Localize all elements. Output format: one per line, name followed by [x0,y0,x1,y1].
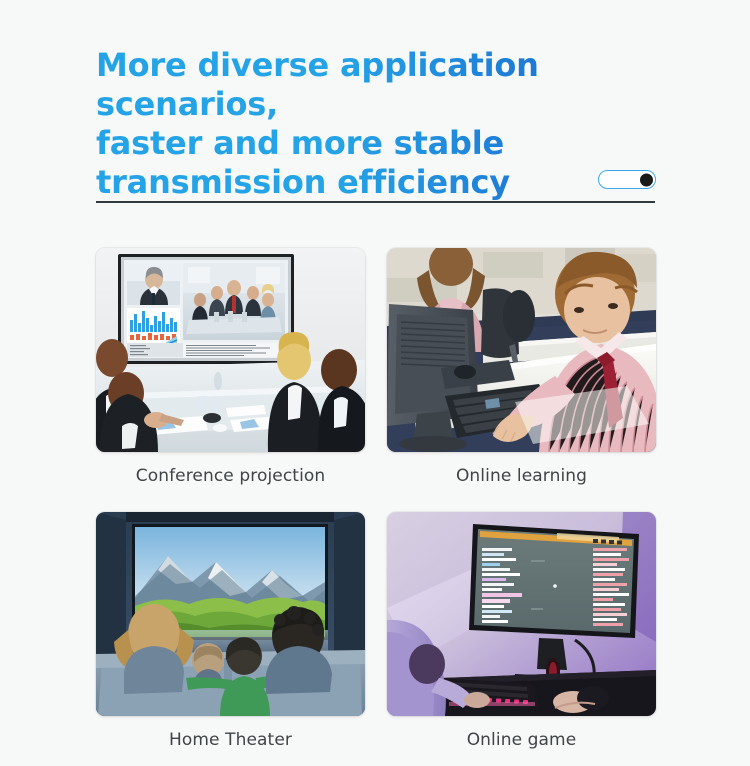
toggle-track[interactable] [598,170,656,189]
page-title: More diverse application scenarios, fast… [96,46,676,202]
online-learning-illustration [387,248,656,452]
page-title-line-2: faster and more stable [96,124,676,163]
conference-projection-photo [96,248,365,452]
toggle-knob[interactable] [640,173,653,186]
scenario-caption: Online learning [387,452,656,502]
scenario-caption: Online game [387,716,656,766]
scenario-card-online-learning[interactable]: Online learning [387,248,656,502]
page-title-line-1: More diverse application scenarios, [96,46,676,124]
home-theater-photo [96,512,365,716]
scenario-grid: Conference projection [96,248,656,766]
online-game-photo [387,512,656,716]
home-theater-illustration [96,512,365,716]
scenario-caption: Conference projection [96,452,365,502]
toggle-switch[interactable] [598,170,656,189]
scenario-card-conference-projection[interactable]: Conference projection [96,248,365,502]
scenario-card-home-theater[interactable]: Home Theater [96,512,365,766]
online-game-illustration [387,512,656,716]
scenario-card-online-game[interactable]: Online game [387,512,656,766]
scenario-caption: Home Theater [96,716,365,766]
online-learning-photo [387,248,656,452]
section-divider [96,201,655,203]
conference-projection-illustration [96,248,365,452]
page-title-line-3: transmission efficiency [96,163,676,202]
